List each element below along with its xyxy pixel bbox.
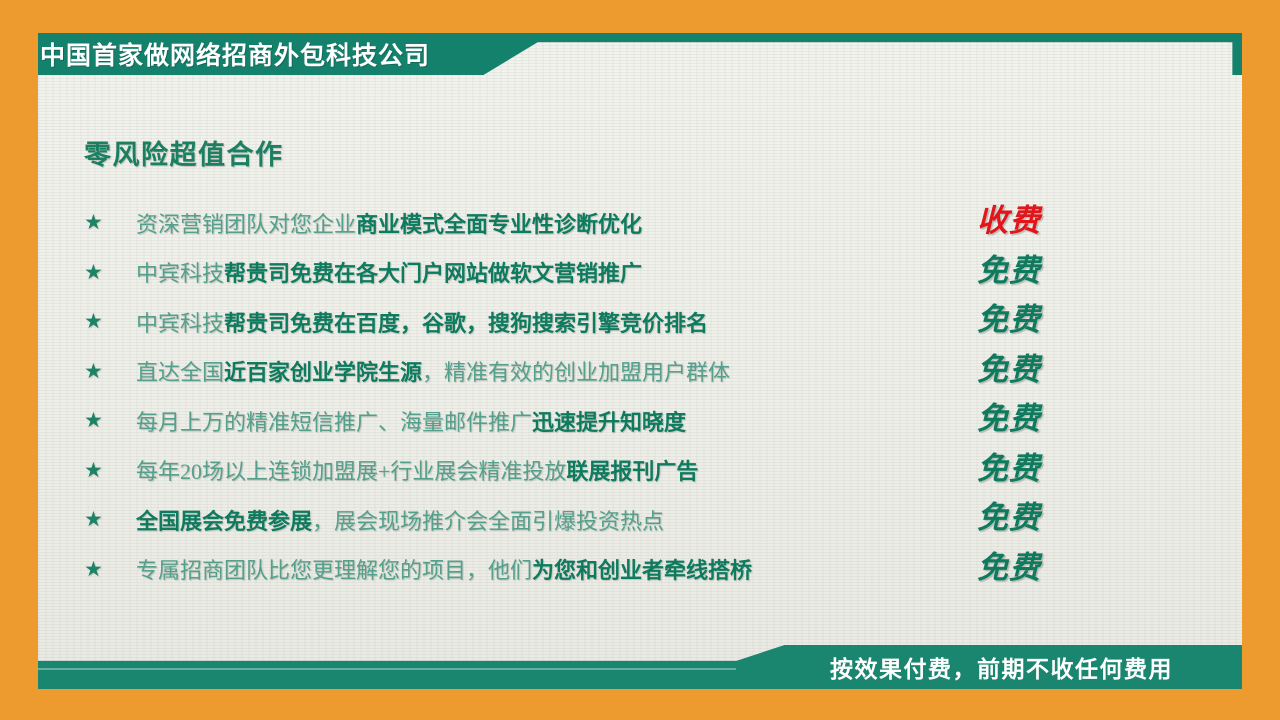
benefit-row: ★资深营销团队对您企业商业模式全面专业性诊断优化 — [84, 198, 964, 248]
header-title: 中国首家做网络招商外包科技公司 — [40, 33, 430, 75]
benefit-text-plain: 每月上万的精准短信推广、海量邮件推广 — [136, 410, 532, 435]
benefit-text-emphasis: 全国展会免费参展 — [136, 509, 312, 534]
benefit-text-plain: 中宾科技 — [136, 311, 224, 336]
benefit-text: 全国展会免费参展，展会现场推介会全面引爆投资热点 — [136, 504, 664, 536]
price-label: 免费 — [944, 441, 1074, 491]
benefit-text-plain: 资深营销团队对您企业 — [136, 212, 356, 237]
slide-root: 中国首家做网络招商外包科技公司 零风险超值合作 ★资深营销团队对您企业商业模式全… — [0, 0, 1280, 720]
benefit-text: 中宾科技帮贵司免费在百度，谷歌，搜狗搜索引擎竞价排名 — [136, 306, 708, 338]
benefit-row: ★全国展会免费参展，展会现场推介会全面引爆投资热点 — [84, 495, 964, 545]
star-bullet-icon: ★ — [84, 460, 136, 481]
benefit-row: ★专属招商团队比您更理解您的项目，他们为您和创业者牵线搭桥 — [84, 545, 964, 595]
benefit-text-emphasis: 为您和创业者牵线搭桥 — [532, 558, 752, 583]
benefit-text: 每年20场以上连锁加盟展+行业展会精准投放联展报刊广告 — [136, 454, 698, 486]
star-bullet-icon: ★ — [84, 311, 136, 332]
benefit-text-plain: 直达全国 — [136, 360, 224, 385]
benefit-text-plain: ，精准有效的创业加盟用户群体 — [422, 360, 730, 385]
benefit-text: 中宾科技帮贵司免费在各大门户网站做软文营销推广 — [136, 256, 642, 288]
benefit-text-emphasis: 帮贵司免费在各大门户网站做软文营销推广 — [224, 261, 642, 286]
benefit-row: ★中宾科技帮贵司免费在百度，谷歌，搜狗搜索引擎竞价排名 — [84, 297, 964, 347]
benefit-text-plain: ，展会现场推介会全面引爆投资热点 — [312, 509, 664, 534]
benefit-text: 资深营销团队对您企业商业模式全面专业性诊断优化 — [136, 207, 642, 239]
benefit-text-plain: 专属招商团队比您更理解您的项目，他们 — [136, 558, 532, 583]
footer-tagline: 按效果付费，前期不收任何费用 — [830, 645, 1173, 689]
price-label: 免费 — [944, 342, 1074, 392]
price-label: 免费 — [944, 490, 1074, 540]
price-label: 免费 — [944, 243, 1074, 293]
star-bullet-icon: ★ — [84, 262, 136, 283]
benefit-text-emphasis: 迅速提升知晓度 — [532, 410, 686, 435]
benefit-row: ★直达全国近百家创业学院生源，精准有效的创业加盟用户群体 — [84, 347, 964, 397]
price-label: 免费 — [944, 540, 1074, 590]
star-bullet-icon: ★ — [84, 559, 136, 580]
star-bullet-icon: ★ — [84, 410, 136, 431]
benefit-text-emphasis: 近百家创业学院生源 — [224, 360, 422, 385]
benefit-text-plain: 中宾科技 — [136, 261, 224, 286]
benefit-row: ★每月上万的精准短信推广、海量邮件推广迅速提升知晓度 — [84, 396, 964, 446]
price-column: 收费免费免费免费免费免费免费免费 — [944, 193, 1074, 589]
benefit-text-plain: 每年20场以上连锁加盟展+行业展会精准投放 — [136, 459, 566, 484]
benefit-text-emphasis: 帮贵司免费在百度，谷歌，搜狗搜索引擎竞价排名 — [224, 311, 708, 336]
star-bullet-icon: ★ — [84, 212, 136, 233]
benefit-text-emphasis: 联展报刊广告 — [566, 459, 698, 484]
benefit-text: 专属招商团队比您更理解您的项目，他们为您和创业者牵线搭桥 — [136, 553, 752, 585]
price-label: 免费 — [944, 391, 1074, 441]
price-label: 收费 — [944, 193, 1074, 243]
benefit-row: ★中宾科技帮贵司免费在各大门户网站做软文营销推广 — [84, 248, 964, 298]
benefit-text-emphasis: 商业模式全面专业性诊断优化 — [356, 212, 642, 237]
footer-hairline — [38, 668, 736, 670]
benefit-text: 直达全国近百家创业学院生源，精准有效的创业加盟用户群体 — [136, 355, 730, 387]
benefits-list: ★资深营销团队对您企业商业模式全面专业性诊断优化★中宾科技帮贵司免费在各大门户网… — [84, 198, 964, 594]
star-bullet-icon: ★ — [84, 361, 136, 382]
section-title: 零风险超值合作 — [84, 133, 284, 172]
benefit-row: ★每年20场以上连锁加盟展+行业展会精准投放联展报刊广告 — [84, 446, 964, 496]
price-label: 免费 — [944, 292, 1074, 342]
star-bullet-icon: ★ — [84, 509, 136, 530]
benefit-text: 每月上万的精准短信推广、海量邮件推广迅速提升知晓度 — [136, 405, 686, 437]
